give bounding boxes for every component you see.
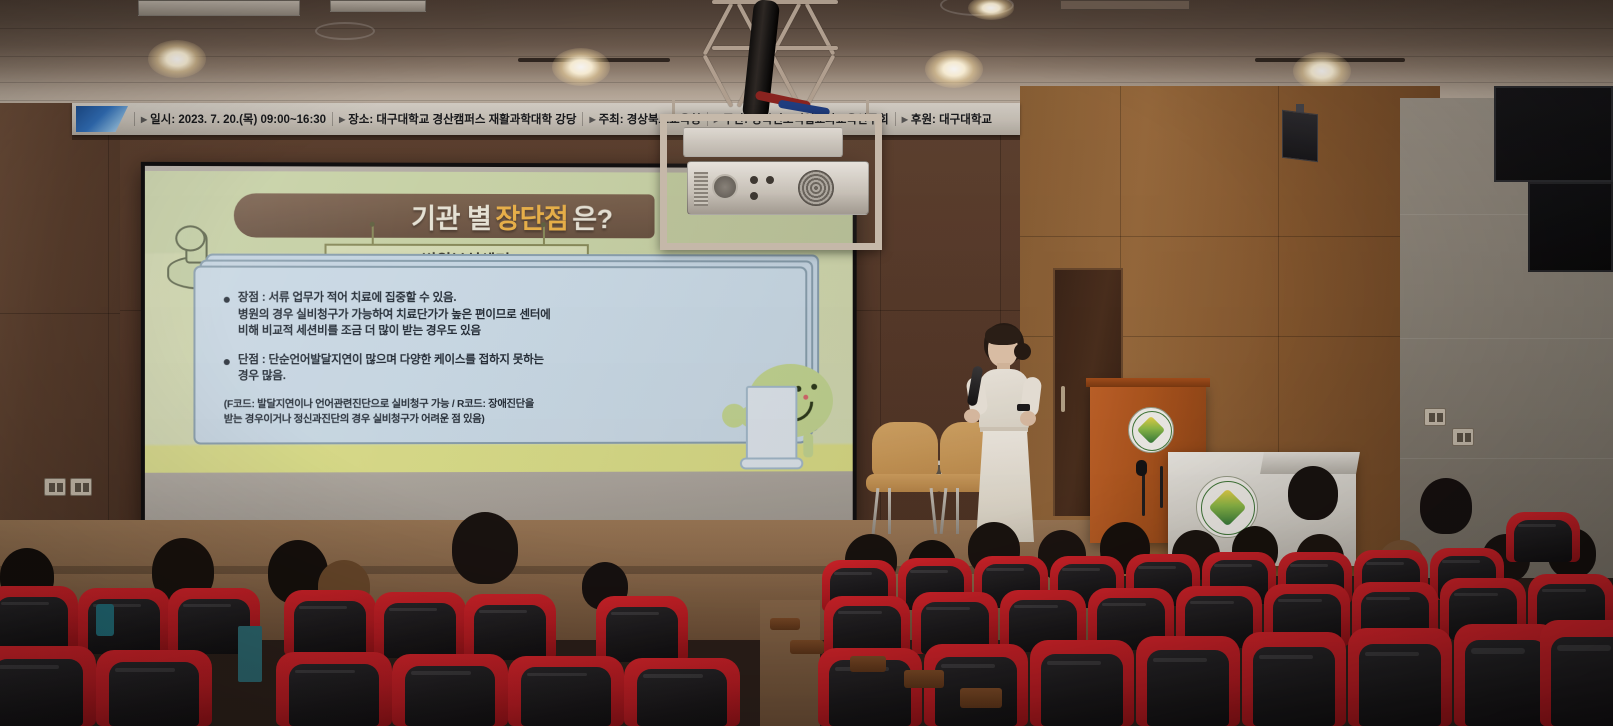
projector-cage (660, 114, 882, 250)
banner-item-sponsor: ▶ 후원: 대구대학교 (902, 111, 992, 127)
auditorium-seat[interactable] (1242, 632, 1346, 726)
auditorium-seat[interactable] (96, 650, 212, 726)
presenter-hand-right (1020, 411, 1036, 426)
bullet-text-group: 단점 : 단순언어발달지연이 많으며 다양한 케이스를 접하지 못하는 경우 많… (238, 351, 544, 384)
presenter-hair-bun (1014, 343, 1031, 360)
auditorium-scene: ▶ 일시: 2023. 7. 20.(목) 09:00~16:30 ▶ 장소: … (0, 0, 1613, 726)
projector-lens (712, 174, 738, 200)
note-line: 받는 경우이거나 정신과진단의 경우 실비청구가 어려운 점 있음) (224, 411, 782, 427)
audience-head (1288, 466, 1338, 520)
character-hand (722, 404, 746, 428)
seat-armrest (770, 618, 800, 630)
bullet-line: 비해 비교적 세션비를 조금 더 많이 받는 경우도 있음 (238, 323, 551, 340)
bullet-line: 단점 : 단순언어발달지연이 많으며 다양한 케이스를 접하지 못하는 (238, 351, 544, 368)
ceiling-vent (330, 0, 426, 12)
bullet-line: 장점 : 서류 업무가 적어 치료에 집중할 수 있음. (238, 290, 551, 307)
presenter-hand-left (964, 409, 980, 423)
daegu-university-emblem (1128, 407, 1174, 453)
character-scroll-roll (740, 457, 803, 469)
triangle-icon: ▶ (902, 115, 908, 124)
ceiling-vent (138, 0, 300, 16)
green-character-illustration (706, 358, 837, 468)
seat-armrest (960, 688, 1002, 708)
auditorium-seat[interactable] (78, 588, 170, 654)
blue-logo-mark (76, 106, 128, 132)
auditorium-seat[interactable] (1030, 640, 1134, 726)
banner-sponsor-label: 후원: 대구대학교 (911, 111, 992, 127)
wall-outlet (1424, 408, 1446, 426)
presenter-watch (1017, 404, 1030, 411)
wall-monitor (1494, 86, 1613, 182)
auditorium-seat[interactable] (464, 594, 556, 660)
auditorium-seat[interactable] (0, 646, 96, 726)
bullet-line: 경우 많음. (238, 368, 544, 385)
triangle-icon: ▶ (339, 115, 345, 124)
auditorium-seat[interactable] (508, 656, 624, 726)
seat-armrest (850, 656, 886, 672)
triangle-icon: ▶ (589, 115, 595, 124)
projector-assembly (660, 0, 890, 250)
slide-note: (F코드: 발달지연이나 언어관련진단으로 실비청구 가능 / R코드: 장애진… (224, 396, 782, 427)
auditorium-seat[interactable] (1540, 620, 1613, 726)
banner-date-label: 일시: 2023. 7. 20.(목) 09:00~16:30 (150, 111, 326, 127)
projector-fan (798, 170, 834, 206)
left-wall (0, 103, 130, 573)
seat-armrest (904, 670, 944, 688)
auditorium-seat[interactable] (596, 596, 688, 662)
slide-bullet: 단점 : 단순언어발달지연이 많으며 다양한 케이스를 접하지 못하는 경우 많… (224, 351, 782, 384)
banner-item-date: ▶ 일시: 2023. 7. 20.(목) 09:00~16:30 (141, 111, 326, 127)
ceiling-downlight (925, 50, 983, 88)
presenter-hair-front (985, 325, 1021, 345)
bullet-text-group: 장점 : 서류 업무가 적어 치료에 집중할 수 있음. 병원의 경우 실비청구… (238, 290, 551, 340)
slide-title-part3: 은? (572, 197, 612, 236)
projector-upper-panel (683, 127, 843, 157)
stage-chair[interactable] (866, 422, 944, 534)
ceiling-vent (1060, 0, 1190, 10)
wall-outlet (1452, 428, 1474, 446)
bullet-line: 병원의 경우 실비청구가 가능하여 치료단가가 높은 편이므로 센터에 (238, 306, 551, 323)
bullet-dot-icon (224, 359, 230, 365)
lectern-mic-stand[interactable] (1160, 466, 1163, 508)
bullet-dot-icon (224, 297, 230, 303)
auditorium-seat[interactable] (1348, 628, 1452, 726)
wall-speaker (1282, 110, 1318, 162)
slide-title-part1: 기관 별 (411, 196, 491, 235)
triangle-icon: ▶ (141, 115, 147, 124)
wall-outlet (44, 478, 66, 496)
banner-venue-label: 장소: 대구대학교 경산캠퍼스 재활과학대학 강당 (348, 111, 576, 127)
ceiling-downlight (552, 48, 610, 86)
seat-armrest (238, 626, 262, 682)
auditorium-seat[interactable] (276, 652, 392, 726)
character-scroll (746, 386, 797, 464)
projector-vents (694, 172, 708, 206)
slide-title: 기관 별 장단점은? (342, 196, 682, 237)
wall-monitor-secondary (1528, 182, 1613, 272)
auditorium-seat[interactable] (284, 590, 376, 656)
audience-head (1420, 478, 1472, 534)
slide-bullet: 장점 : 서류 업무가 적어 치료에 집중할 수 있음. 병원의 경우 실비청구… (224, 290, 782, 340)
wall-outlet (70, 478, 92, 496)
presenter (966, 323, 1042, 542)
ceiling-downlight (148, 40, 206, 78)
auditorium-seat[interactable] (0, 586, 78, 652)
auditorium-seat[interactable] (1136, 636, 1240, 726)
downlight-trim (315, 22, 375, 40)
ceiling-downlight (1293, 52, 1351, 90)
door-handle[interactable] (1061, 386, 1065, 412)
seat-armrest (96, 604, 114, 636)
banner-item-venue: ▶ 장소: 대구대학교 경산캠퍼스 재활과학대학 강당 (339, 111, 576, 127)
audience-head (452, 512, 518, 584)
auditorium-seat[interactable] (392, 654, 508, 726)
auditorium-seat[interactable] (1506, 512, 1580, 562)
slide-title-part2: 장단점 (495, 196, 568, 235)
seat-armrest (790, 640, 824, 654)
projector-body (687, 161, 869, 215)
podium-mic-head[interactable] (1136, 460, 1147, 476)
auditorium-seat[interactable] (624, 658, 740, 726)
note-line: (F코드: 발달지연이나 언어관련진단으로 실비청구 가능 / R코드: 장애진… (224, 396, 782, 412)
auditorium-seat[interactable] (374, 592, 466, 658)
